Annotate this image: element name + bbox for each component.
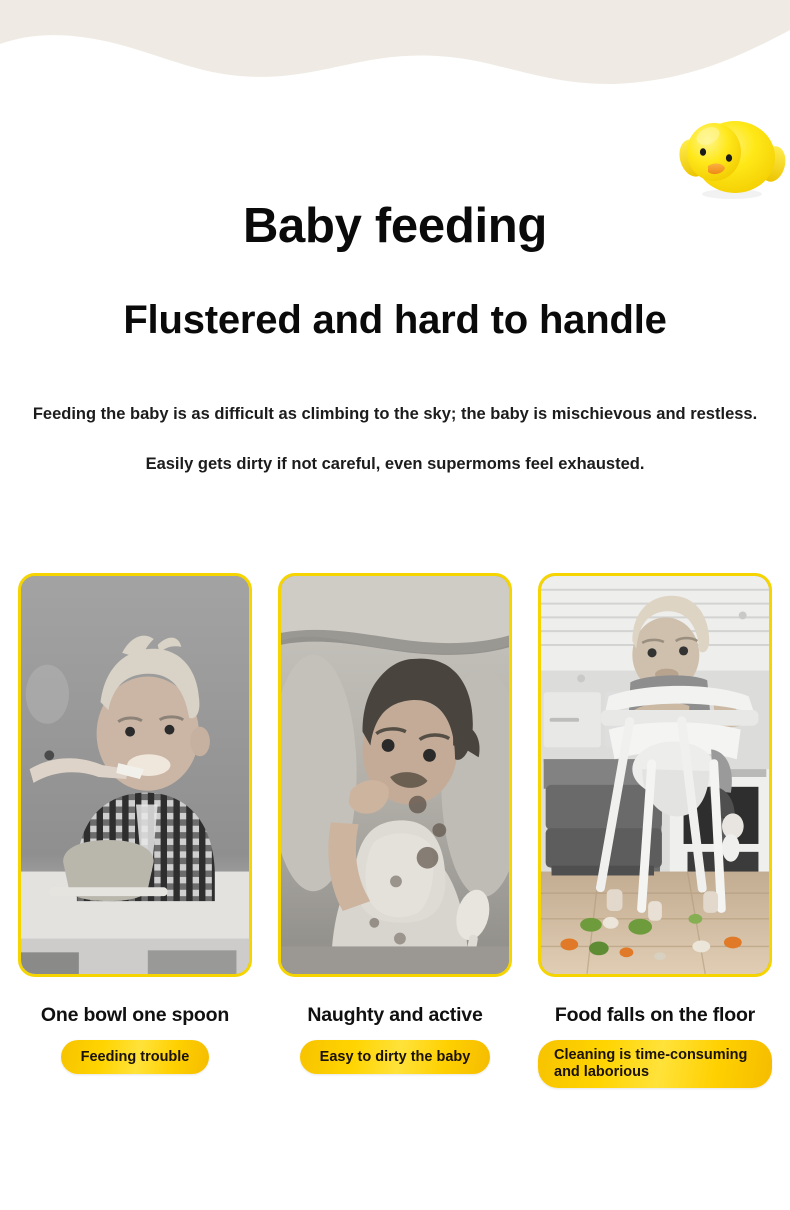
lede-line-1: Feeding the baby is as difficult as clim… [0,402,790,426]
pain-point-card[interactable]: Food falls on the floor Cleaning is time… [538,573,772,1103]
pain-point-card[interactable]: One bowl one spoon Feeding trouble [18,573,252,1103]
page-title: Baby feeding [0,198,790,254]
card-badge[interactable]: Feeding trouble [61,1040,210,1074]
card-badge[interactable]: Easy to dirty the baby [300,1040,491,1074]
photo-mother-spoon-feeding-toddler [21,576,249,974]
card-photo-frame [538,573,772,977]
promo-page: Baby feeding Flustered and hard to handl… [0,0,790,1210]
card-caption: One bowl one spoon [41,1003,229,1027]
card-caption: Naughty and active [307,1003,482,1027]
pain-point-card[interactable]: Naughty and active Easy to dirty the bab… [278,573,512,1103]
rubber-duck-icon [678,108,786,200]
card-badge[interactable]: Cleaning is time-consuming and laborious [538,1040,772,1088]
card-photo-frame [18,573,252,977]
page-subtitle: Flustered and hard to handle [0,296,790,344]
cream-wave-banner [0,0,790,110]
card-caption: Food falls on the floor [555,1003,755,1027]
card-photo-frame [278,573,512,977]
lede-line-2: Easily gets dirty if not careful, even s… [0,452,790,476]
photo-messy-toddler-eating-with-hands [281,576,509,974]
pain-point-card-row: One bowl one spoon Feeding trouble [0,573,790,1103]
photo-food-dropped-under-highchair [541,576,769,974]
